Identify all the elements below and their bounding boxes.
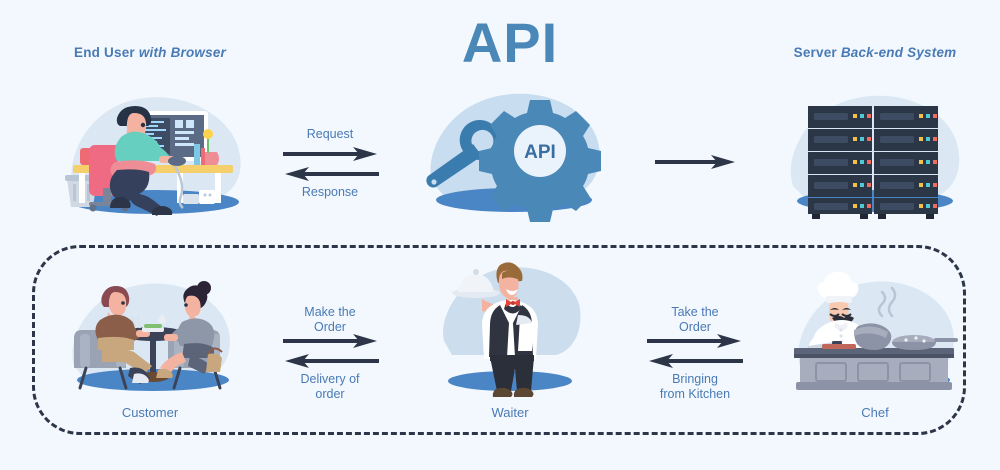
waiter-chef-arrows (647, 333, 743, 371)
bringing-from-kitchen-line1: Bringing (630, 372, 760, 387)
waiter-label: Waiter (450, 405, 570, 420)
make-the-order-line1: Make the (272, 305, 388, 320)
end-user-label-italic: with Browser (139, 45, 226, 60)
customer-waiter-arrows (283, 333, 379, 371)
diagram-canvas: End User with Browser API Server Back-en… (0, 0, 1000, 470)
api-illustration: API (418, 82, 608, 222)
server-label-bold: Server (794, 45, 841, 60)
end-user-label: End User with Browser (70, 44, 230, 61)
gear-api-text: API (524, 142, 556, 163)
take-the-order-line1: Take the (634, 305, 756, 320)
server-label-italic: Back-end System (841, 45, 957, 60)
waiter-illustration (438, 255, 583, 405)
delivery-of-order-line1: Delivery of (272, 372, 388, 387)
chef-label: Chef (815, 405, 935, 420)
delivery-of-order-line2: order (272, 387, 388, 402)
request-label: Request (270, 127, 390, 142)
server-illustration (775, 82, 975, 222)
bringing-from-kitchen-label: Bringing from Kitchen (630, 372, 760, 402)
end-user-illustration (55, 82, 255, 222)
server-label: Server Back-end System (790, 44, 960, 61)
take-the-order-label: Take the Order (634, 305, 756, 335)
delivery-of-order-label: Delivery of order (272, 372, 388, 402)
page-title: API (400, 14, 620, 72)
end-user-label-bold: End User (74, 45, 139, 60)
chef-illustration (786, 270, 966, 398)
customer-illustration (58, 272, 248, 397)
make-the-order-label: Make the Order (272, 305, 388, 335)
customer-label: Customer (90, 405, 210, 420)
api-to-server-arrow (655, 154, 735, 172)
request-response-arrows (283, 146, 379, 184)
bringing-from-kitchen-line2: from Kitchen (630, 387, 760, 402)
response-label: Response (270, 185, 390, 200)
